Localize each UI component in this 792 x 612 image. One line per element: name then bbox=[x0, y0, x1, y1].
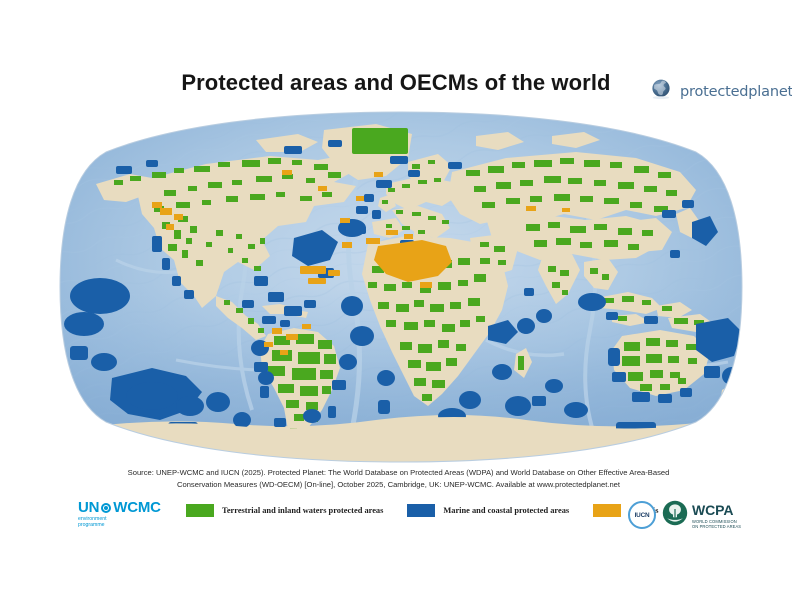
wcpa-name: WCPA bbox=[692, 502, 733, 518]
wcpa-subtitle-line-1: WORLD COMMISSION bbox=[692, 519, 741, 524]
wcpa-logo: WCPA WORLD COMMISSION ON PROTECTED AREAS bbox=[662, 500, 741, 531]
legend-label-terrestrial: Terrestrial and inland waters protected … bbox=[222, 506, 383, 515]
un-emblem-icon bbox=[101, 503, 111, 513]
iucn-logo: IUCN bbox=[628, 501, 656, 529]
legend-label-marine: Marine and coastal protected areas bbox=[443, 506, 569, 515]
world-map bbox=[56, 110, 746, 465]
wcpa-tree-emblem-icon bbox=[662, 500, 688, 531]
legend-swatch-terrestrial bbox=[186, 504, 214, 517]
wcpa-wordmark: WCPA WORLD COMMISSION ON PROTECTED AREAS bbox=[692, 503, 741, 529]
footer-bar: UN WCMC environment programme Terrestria… bbox=[0, 496, 792, 538]
iucn-label: IUCN bbox=[635, 512, 650, 519]
unep-tagline: environment programme bbox=[78, 516, 178, 528]
legend-item-terrestrial: Terrestrial and inland waters protected … bbox=[186, 504, 383, 517]
legend-swatch-oecm bbox=[593, 504, 621, 517]
un-text: UN bbox=[78, 500, 99, 515]
unep-wcmc-wordmark: UN WCMC bbox=[78, 500, 178, 515]
legend-swatch-marine bbox=[407, 504, 435, 517]
protectedplanet-logo: protectedplanet® bbox=[648, 76, 792, 107]
protectedplanet-wordmark: protectedplanet® bbox=[680, 84, 792, 100]
map-legend: Terrestrial and inland waters protected … bbox=[186, 504, 658, 517]
unep-tagline-line-2: programme bbox=[78, 522, 178, 528]
map-canvas bbox=[56, 110, 746, 465]
unep-wcmc-logo: UN WCMC environment programme bbox=[78, 500, 178, 528]
wcpa-subtitle-line-2: ON PROTECTED AREAS bbox=[692, 524, 741, 529]
source-citation: Source: UNEP-WCMC and IUCN (2025). Prote… bbox=[76, 467, 721, 491]
wcpa-subtitle: WORLD COMMISSION ON PROTECTED AREAS bbox=[692, 519, 741, 529]
legend-item-marine: Marine and coastal protected areas bbox=[407, 504, 569, 517]
wcmc-text: WCMC bbox=[113, 500, 161, 515]
source-line-2: Conservation Measures (WD-OECM) [On-line… bbox=[76, 479, 721, 491]
iucn-ring-icon: IUCN bbox=[628, 501, 656, 529]
globe-icon bbox=[648, 76, 674, 107]
source-line-1: Source: UNEP-WCMC and IUCN (2025). Prote… bbox=[76, 467, 721, 479]
